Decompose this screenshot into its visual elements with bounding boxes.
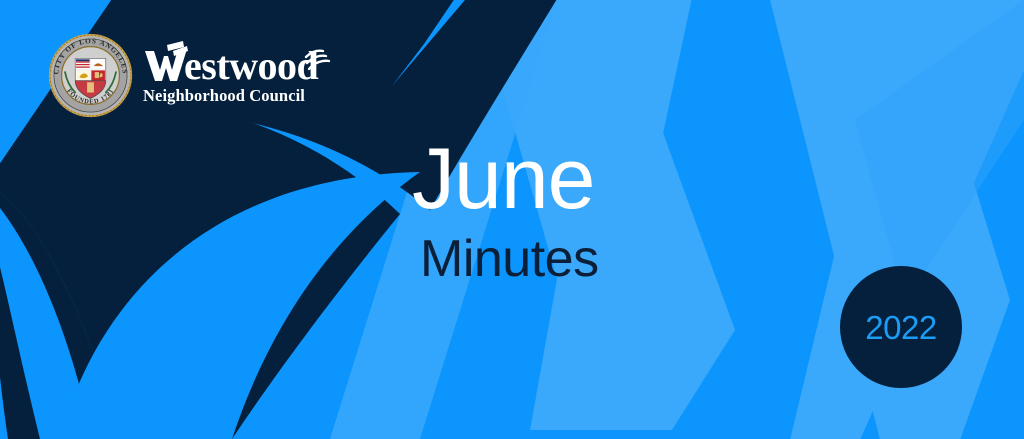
westwood-wordmark-icon: estwood: [143, 39, 333, 87]
document-type-subtitle: Minutes: [420, 233, 599, 285]
wnc-wordmark: estwood Neighborhood Council: [143, 33, 333, 105]
year-badge: 2022: [840, 266, 962, 388]
svg-text:estwood: estwood: [184, 43, 319, 87]
westwood-minutes-banner: CITY OF LOS ANGELES FOUNDED 1781 estwood: [0, 0, 1024, 439]
title-block: June Minutes: [412, 140, 599, 285]
month-title: June: [412, 140, 599, 220]
wnc-subtitle: Neighborhood Council: [143, 88, 333, 105]
city-of-los-angeles-seal-icon: CITY OF LOS ANGELES FOUNDED 1781: [48, 33, 133, 118]
year-label: 2022: [865, 311, 936, 344]
logo-lockup: CITY OF LOS ANGELES FOUNDED 1781 estwood: [48, 33, 333, 118]
